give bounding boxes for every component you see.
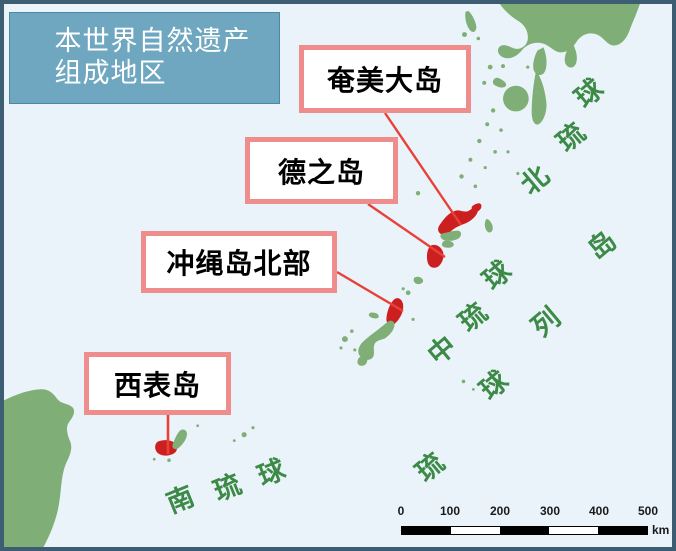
callout-okinawa-north-label: 冲绳岛北部	[166, 242, 311, 282]
scale-tick-500: 500	[638, 504, 658, 518]
scale-tick-0: 0	[398, 504, 405, 518]
island-dot-5	[526, 65, 529, 68]
island-dot-25	[472, 388, 475, 391]
island-dot-11	[493, 150, 497, 154]
map-canvas[interactable]: 北 琉 球 岛 列 中 琉 球 球 琉 南 琉 球 本世界自然遗产 组成地区 奄…	[0, 0, 676, 551]
island-dot-6	[482, 81, 486, 85]
scale-tick-200: 200	[490, 504, 510, 518]
callout-iriomote-label: 西表岛	[114, 364, 201, 404]
island-dot-13	[484, 166, 487, 169]
kyushu-south-tip	[533, 47, 546, 75]
island-dot-15	[474, 185, 478, 189]
miyakojima	[242, 432, 247, 437]
callout-iriomote[interactable]: 西表岛	[84, 352, 231, 415]
scale-segment-1	[402, 527, 451, 534]
scale-tick-400: 400	[589, 504, 609, 518]
callout-amami-oshima[interactable]: 奄美大岛	[299, 45, 471, 113]
island-dot-2	[477, 37, 481, 41]
island-yakushima	[503, 86, 529, 112]
callout-okinawa-north[interactable]: 冲绳岛北部	[141, 231, 337, 293]
scale-bar: 0 100 200 300 400 500 km	[394, 504, 664, 540]
title-panel: 本世界自然遗产 组成地区	[9, 12, 280, 104]
island-dot-10	[477, 139, 481, 143]
kakeromajima	[442, 241, 454, 248]
island-dot-26	[251, 426, 254, 429]
callout-amami-oshima-label: 奄美大岛	[327, 59, 443, 99]
scale-tick-100: 100	[440, 504, 460, 518]
island-dot-12	[468, 158, 472, 162]
scale-segment-3	[500, 527, 549, 534]
island-dot-3	[488, 65, 493, 70]
scale-segment-4	[549, 527, 598, 534]
island-dot-16	[506, 150, 509, 153]
island-dot-9	[499, 128, 503, 132]
island-dot-17	[516, 172, 519, 175]
island-dot-4	[501, 64, 505, 68]
callout-tokunoshima-label: 德之岛	[278, 151, 365, 191]
scale-bar-ticks: 0 100 200 300 400 500	[394, 504, 664, 522]
tokunoshima-highlight	[427, 245, 444, 268]
title-text: 本世界自然遗产 组成地区	[33, 26, 257, 90]
ishigakijima	[172, 430, 187, 450]
scale-segment-2	[451, 527, 500, 534]
island-dot-1	[462, 32, 467, 37]
okinoerabujima	[414, 277, 423, 284]
map-screenshot: 北 琉 球 岛 列 中 琉 球 球 琉 南 琉 球 本世界自然遗产 组成地区 奄…	[0, 0, 676, 551]
callout-tokunoshima[interactable]: 德之岛	[245, 137, 398, 204]
island-dot-23	[402, 287, 405, 290]
yoronjima	[406, 290, 411, 295]
island-dot-28	[167, 459, 171, 463]
amami-oshima-east-tip	[472, 203, 482, 212]
island-koshiki	[465, 11, 476, 32]
island-dot-22	[412, 318, 415, 321]
island-dot-21	[353, 348, 356, 351]
okinawa-south-tip	[358, 357, 368, 366]
scale-bar-segments	[401, 526, 648, 535]
scale-segment-5	[598, 527, 647, 534]
okinawa-main-green	[358, 321, 394, 360]
island-dot-24	[462, 380, 466, 384]
island-dot-29	[153, 458, 156, 461]
island-dot-7	[491, 108, 495, 112]
island-tanegashima	[532, 73, 547, 125]
kumejima	[342, 336, 348, 342]
island-dot-27	[233, 439, 236, 442]
iejima	[369, 312, 379, 318]
island-dot-20	[339, 346, 342, 349]
island-dot-19	[350, 329, 354, 333]
island-dot-14	[459, 174, 463, 178]
kikaijima	[485, 219, 493, 233]
scale-tick-300: 300	[540, 504, 560, 518]
island-kuchinoerabu	[493, 78, 506, 88]
island-dot-18	[416, 191, 420, 195]
island-dot-30	[196, 424, 199, 427]
island-dot-8	[485, 122, 489, 126]
taiwan-landmass	[4, 389, 74, 547]
scale-bar-unit: km	[652, 523, 669, 537]
okinawa-north-highlight	[386, 298, 403, 325]
